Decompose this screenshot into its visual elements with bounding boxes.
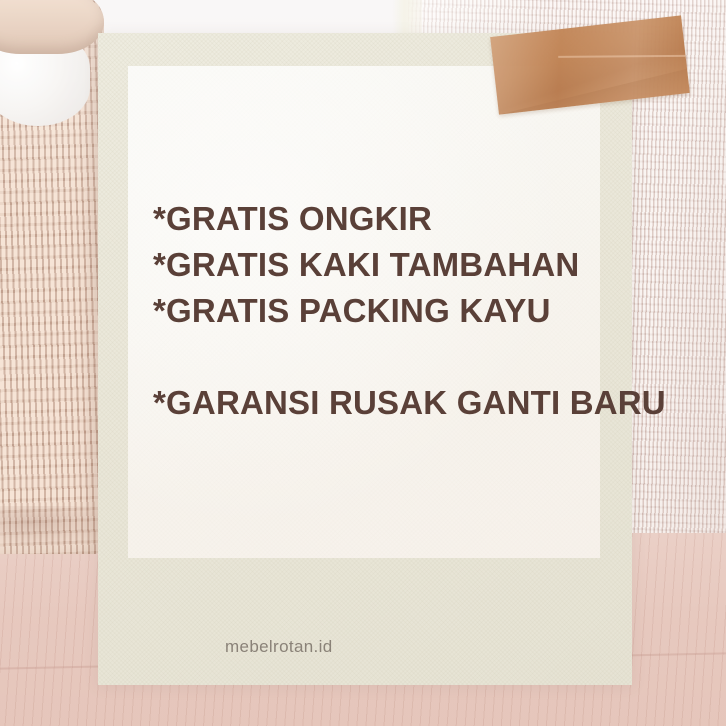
offer-list-spacer bbox=[153, 334, 613, 380]
offer-line-2: *GRATIS KAKI TAMBAHAN bbox=[153, 242, 613, 288]
watermark-handle: mebelrotan.id bbox=[225, 637, 333, 657]
offer-line-3: *GRATIS PACKING KAYU bbox=[153, 288, 613, 334]
warranty-line: *GARANSI RUSAK GANTI BARU bbox=[153, 380, 613, 426]
offer-line-1: *GRATIS ONGKIR bbox=[153, 196, 613, 242]
offer-list: *GRATIS ONGKIR *GRATIS KAKI TAMBAHAN *GR… bbox=[153, 196, 613, 426]
poster-canvas: mebelrotan.id *GRATIS ONGKIR *GRATIS KAK… bbox=[0, 0, 726, 726]
